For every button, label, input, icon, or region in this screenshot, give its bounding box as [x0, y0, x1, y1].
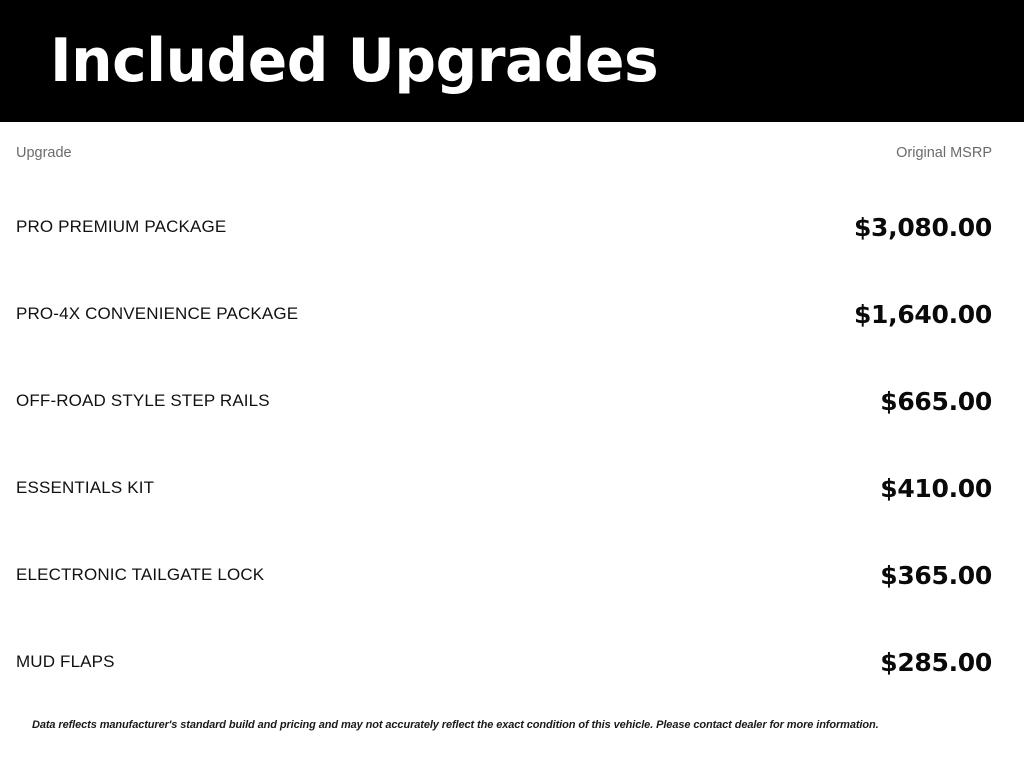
table-row: ESSENTIALS KIT $410.00 [16, 445, 992, 532]
upgrade-name: OFF-ROAD STYLE STEP RAILS [16, 358, 660, 445]
upgrade-price: $665.00 [660, 358, 992, 445]
included-upgrades-page: Included Upgrades Upgrade Original MSRP … [0, 0, 1024, 768]
table-row: MUD FLAPS $285.00 [16, 619, 992, 706]
upgrades-table-wrapper: Upgrade Original MSRP PRO PREMIUM PACKAG… [0, 122, 1024, 768]
upgrade-name: PRO PREMIUM PACKAGE [16, 184, 660, 271]
column-header-upgrade: Upgrade [16, 122, 660, 184]
table-row: PRO PREMIUM PACKAGE $3,080.00 [16, 184, 992, 271]
upgrade-price: $1,640.00 [660, 271, 992, 358]
upgrade-price: $410.00 [660, 445, 992, 532]
table-body: PRO PREMIUM PACKAGE $3,080.00 PRO-4X CON… [16, 184, 992, 706]
upgrades-table: Upgrade Original MSRP PRO PREMIUM PACKAG… [16, 122, 992, 706]
upgrade-name: PRO-4X CONVENIENCE PACKAGE [16, 271, 660, 358]
upgrade-name: MUD FLAPS [16, 619, 660, 706]
table-header: Upgrade Original MSRP [16, 122, 992, 184]
bottom-spacer [16, 732, 992, 768]
table-row: OFF-ROAD STYLE STEP RAILS $665.00 [16, 358, 992, 445]
table-header-row: Upgrade Original MSRP [16, 122, 992, 184]
page-title: Included Upgrades [50, 31, 658, 91]
upgrade-price: $285.00 [660, 619, 992, 706]
upgrade-name: ELECTRONIC TAILGATE LOCK [16, 532, 660, 619]
table-row: ELECTRONIC TAILGATE LOCK $365.00 [16, 532, 992, 619]
upgrade-price: $365.00 [660, 532, 992, 619]
disclaimer-text: Data reflects manufacturer's standard bu… [16, 706, 992, 732]
page-header-banner: Included Upgrades [0, 0, 1024, 122]
upgrade-price: $3,080.00 [660, 184, 992, 271]
table-row: PRO-4X CONVENIENCE PACKAGE $1,640.00 [16, 271, 992, 358]
column-header-original-msrp: Original MSRP [660, 122, 992, 184]
upgrade-name: ESSENTIALS KIT [16, 445, 660, 532]
